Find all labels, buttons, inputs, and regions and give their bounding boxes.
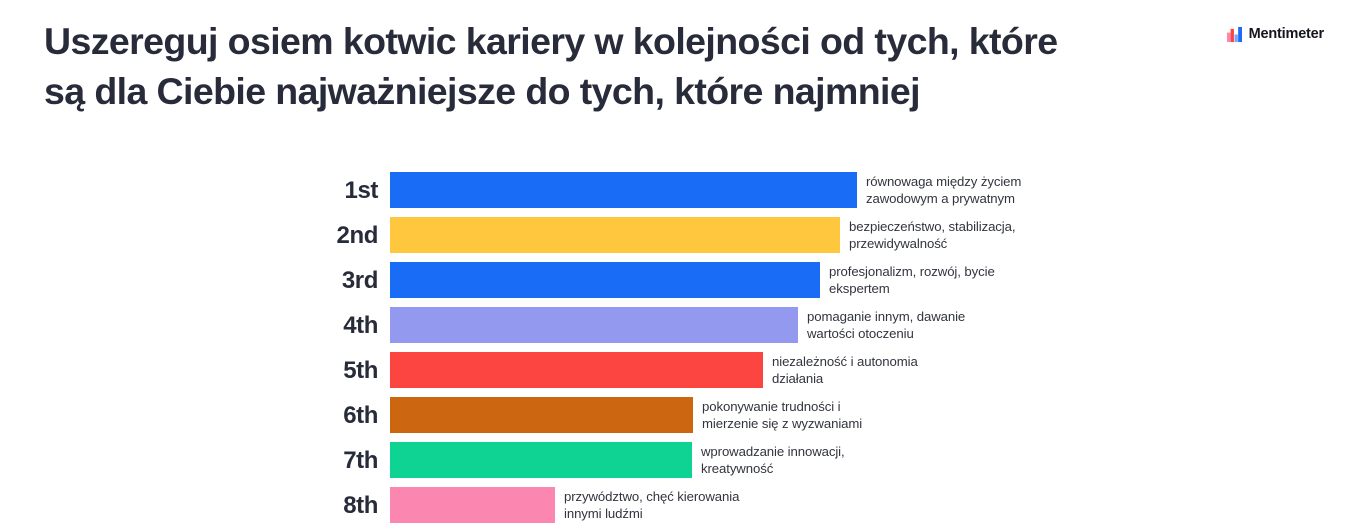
bar [390,487,555,523]
rank-label: 5th [270,352,378,388]
bar [390,442,692,478]
bar-label: pokonywanie trudności i mierzenie się z … [693,398,862,432]
bar [390,397,693,433]
bar-label: niezależność i autonomia działania [763,353,918,387]
brand-logo: Mentimeter [1227,26,1324,42]
rank-label: 8th [270,487,378,523]
chart-row: 4thpomaganie innym, dawanie wartości oto… [0,307,1350,343]
mentimeter-bar-logo-icon [1227,27,1242,42]
page-title: Uszereguj osiem kotwic kariery w kolejno… [44,16,1174,116]
ranking-bar-chart: 1strównowaga między życiem zawodowym a p… [0,165,1350,531]
rank-label: 4th [270,307,378,343]
chart-row: 5thniezależność i autonomia działania [0,352,1350,388]
bar-label: pomaganie innym, dawanie wartości otocze… [798,308,965,342]
chart-row: 1strównowaga między życiem zawodowym a p… [0,172,1350,208]
rank-label: 7th [270,442,378,478]
bar-label: bezpieczeństwo, stabilizacja, przewidywa… [840,218,1015,252]
chart-row: 6thpokonywanie trudności i mierzenie się… [0,397,1350,433]
chart-row: 2ndbezpieczeństwo, stabilizacja, przewid… [0,217,1350,253]
bar-label: wprowadzanie innowacji, kreatywność [692,443,845,477]
rank-label: 6th [270,397,378,433]
bar-label: profesjonalizm, rozwój, bycie ekspertem [820,263,995,297]
rank-label: 1st [270,172,378,208]
bar [390,262,820,298]
header: Uszereguj osiem kotwic kariery w kolejno… [0,0,1350,140]
rank-label: 2nd [270,217,378,253]
bar [390,217,840,253]
brand-name: Mentimeter [1249,26,1324,42]
chart-row: 7thwprowadzanie innowacji, kreatywność [0,442,1350,478]
chart-row: 8thprzywództwo, chęć kierowania innymi l… [0,487,1350,523]
chart-row: 3rdprofesjonalizm, rozwój, bycie ekspert… [0,262,1350,298]
rank-label: 3rd [270,262,378,298]
bar [390,172,857,208]
bar-label: przywództwo, chęć kierowania innymi ludź… [555,488,739,522]
bar-label: równowaga między życiem zawodowym a pryw… [857,173,1021,207]
bar [390,307,798,343]
bar [390,352,763,388]
